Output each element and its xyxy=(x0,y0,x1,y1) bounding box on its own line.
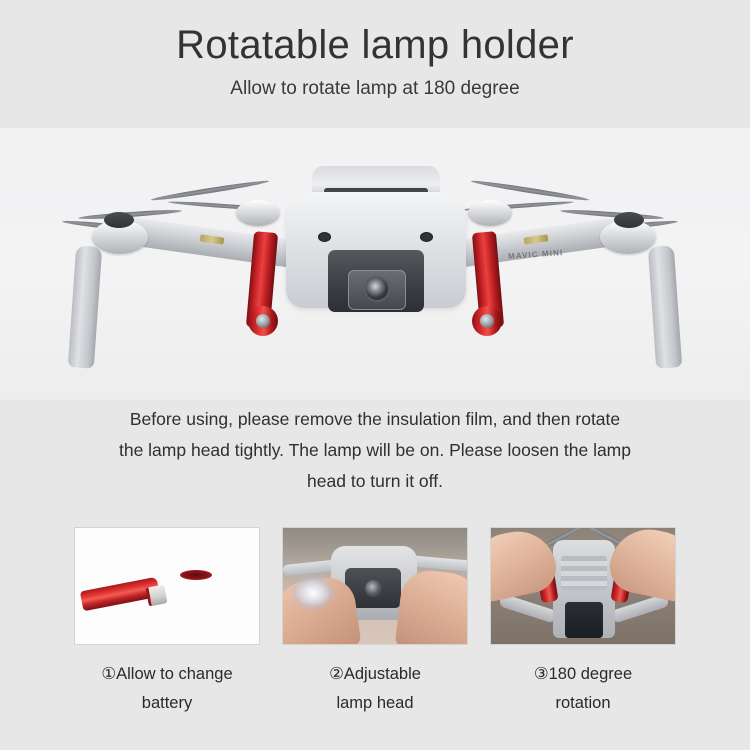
caption-lamp-head-line-2: lamp head xyxy=(282,689,468,718)
instruction-line-2: the lamp head tightly. The lamp will be … xyxy=(66,435,684,466)
landing-leg-right xyxy=(648,245,682,369)
page-header: Rotatable lamp holder Allow to rotate la… xyxy=(0,0,750,101)
camera-lens-thumb xyxy=(365,580,382,597)
battery-tip-part xyxy=(145,584,167,606)
motor-hub-inner-left xyxy=(236,200,280,226)
panel-battery-image xyxy=(74,527,260,645)
lamp-glow-effect xyxy=(291,576,335,610)
instruction-line-3: head to turn it off. xyxy=(66,466,684,497)
lamp-right-lens xyxy=(480,314,494,328)
instruction-text-block: Before using, please remove the insulati… xyxy=(0,404,750,497)
lamp-cap-opening xyxy=(180,570,212,580)
feature-caption-row: ①Allow to change battery ②Adjustable lam… xyxy=(0,660,750,718)
caption-rotation-line-2: rotation xyxy=(490,689,676,718)
lamp-left-lens xyxy=(256,314,270,328)
page-title: Rotatable lamp holder xyxy=(0,22,750,68)
front-sensor-left xyxy=(318,232,331,242)
propeller-blade-left-a xyxy=(150,179,269,203)
hero-product-image: MAVIC MINI xyxy=(0,128,750,400)
caption-battery-line-2: battery xyxy=(74,689,260,718)
camera-lens xyxy=(366,278,388,300)
caption-rotation: ③180 degree rotation xyxy=(490,660,676,718)
propeller-blade-right-a xyxy=(470,179,589,203)
front-sensor-right xyxy=(420,232,433,242)
motor-hub-inner-right xyxy=(468,200,512,226)
gimbal-slot-topdown xyxy=(565,602,603,638)
drone-illustration: MAVIC MINI xyxy=(0,128,750,400)
caption-lamp-head: ②Adjustable lamp head xyxy=(282,660,468,718)
caption-rotation-line-1: ③180 degree xyxy=(490,660,676,689)
caption-battery-line-1: ①Allow to change xyxy=(74,660,260,689)
instruction-line-1: Before using, please remove the insulati… xyxy=(66,404,684,435)
motor-cap-right xyxy=(614,212,644,228)
panel-rotation-image xyxy=(490,527,676,645)
landing-leg-left xyxy=(68,245,102,369)
drone-arm-thumb-right xyxy=(409,555,468,572)
panel-lamp-head-image xyxy=(282,527,468,645)
caption-battery: ①Allow to change battery xyxy=(74,660,260,718)
feature-panel-row xyxy=(0,527,750,645)
battery-pack-topdown xyxy=(561,556,607,590)
caption-lamp-head-line-1: ②Adjustable xyxy=(282,660,468,689)
motor-cap-left xyxy=(104,212,134,228)
page-subtitle: Allow to rotate lamp at 180 degree xyxy=(0,78,750,101)
